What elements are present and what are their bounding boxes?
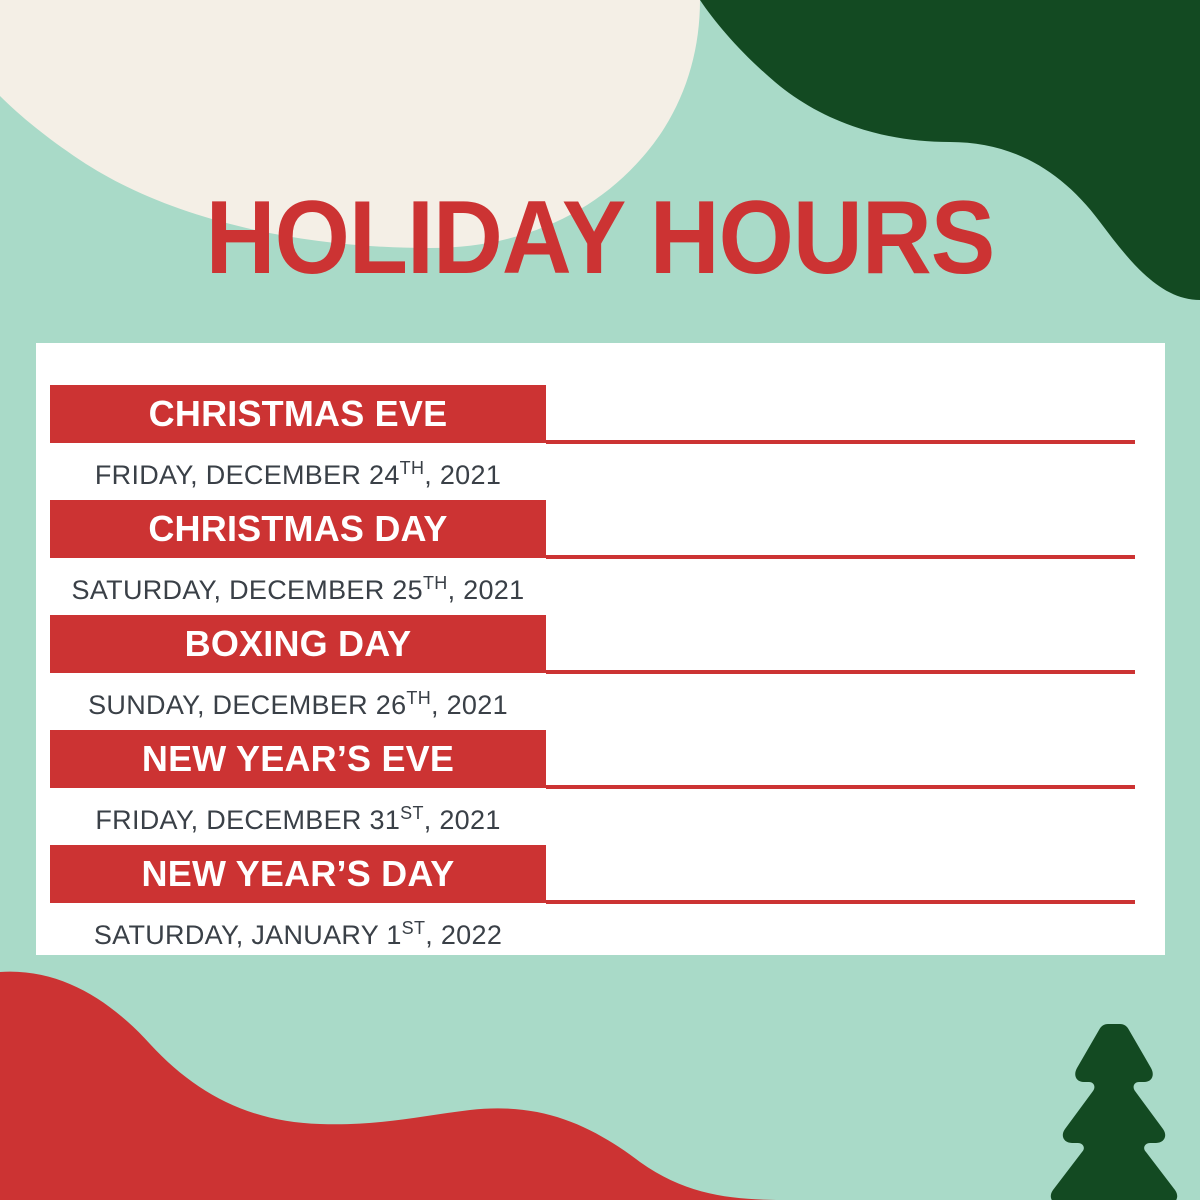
holiday-label-bar: BOXING DAY: [50, 615, 546, 673]
date-ordinal: ST: [402, 918, 426, 938]
holiday-label-bar: NEW YEAR’S DAY: [50, 845, 546, 903]
date-prefix: FRIDAY, DECEMBER 24: [95, 460, 400, 490]
date-ordinal: TH: [423, 573, 448, 593]
holiday-name: CHRISTMAS EVE: [149, 395, 448, 433]
schedule-row: CHRISTMAS DAY SATURDAY, DECEMBER 25TH, 2…: [50, 500, 1151, 604]
red-wave-shape: [0, 972, 790, 1200]
date-prefix: FRIDAY, DECEMBER 31: [95, 805, 400, 835]
date-suffix: , 2021: [448, 575, 525, 605]
holiday-name: CHRISTMAS DAY: [148, 510, 447, 548]
schedule-row: CHRISTMAS EVE FRIDAY, DECEMBER 24TH, 202…: [50, 385, 1151, 489]
holiday-hours-poster: HOLIDAY HOURS CHRISTMAS EVE FRIDAY, DECE…: [0, 0, 1200, 1200]
holiday-label-bar: CHRISTMAS EVE: [50, 385, 546, 443]
date-suffix: , 2021: [431, 690, 508, 720]
hours-entry-line[interactable]: [546, 785, 1135, 789]
holiday-date: SATURDAY, DECEMBER 25TH, 2021: [50, 562, 546, 611]
holiday-label-bar: NEW YEAR’S EVE: [50, 730, 546, 788]
date-suffix: , 2022: [425, 920, 502, 950]
holiday-name: NEW YEAR’S EVE: [142, 740, 454, 778]
date-ordinal: TH: [400, 458, 425, 478]
date-suffix: , 2021: [424, 805, 501, 835]
schedule-row: NEW YEAR’S DAY SATURDAY, JANUARY 1ST, 20…: [50, 845, 1151, 949]
holiday-date: FRIDAY, DECEMBER 31ST, 2021: [50, 792, 546, 841]
hours-entry-line[interactable]: [546, 555, 1135, 559]
schedule-card: CHRISTMAS EVE FRIDAY, DECEMBER 24TH, 202…: [36, 343, 1165, 955]
date-prefix: SUNDAY, DECEMBER 26: [88, 690, 406, 720]
hours-entry-line[interactable]: [546, 900, 1135, 904]
date-suffix: , 2021: [424, 460, 501, 490]
hours-entry-line[interactable]: [546, 440, 1135, 444]
holiday-date: FRIDAY, DECEMBER 24TH, 2021: [50, 447, 546, 496]
holiday-date: SUNDAY, DECEMBER 26TH, 2021: [50, 677, 546, 726]
schedule-row: BOXING DAY SUNDAY, DECEMBER 26TH, 2021: [50, 615, 1151, 719]
date-prefix: SATURDAY, JANUARY 1: [94, 920, 402, 950]
holiday-label-bar: CHRISTMAS DAY: [50, 500, 546, 558]
page-title: HOLIDAY HOURS: [42, 186, 1158, 290]
date-prefix: SATURDAY, DECEMBER 25: [72, 575, 423, 605]
holiday-date: SATURDAY, JANUARY 1ST, 2022: [50, 907, 546, 956]
holiday-name: BOXING DAY: [185, 625, 412, 663]
hours-entry-line[interactable]: [546, 670, 1135, 674]
holiday-name: NEW YEAR’S DAY: [142, 855, 455, 893]
christmas-tree-icon: [1051, 1024, 1177, 1200]
date-ordinal: ST: [400, 803, 424, 823]
schedule-row: NEW YEAR’S EVE FRIDAY, DECEMBER 31ST, 20…: [50, 730, 1151, 834]
date-ordinal: TH: [406, 688, 431, 708]
